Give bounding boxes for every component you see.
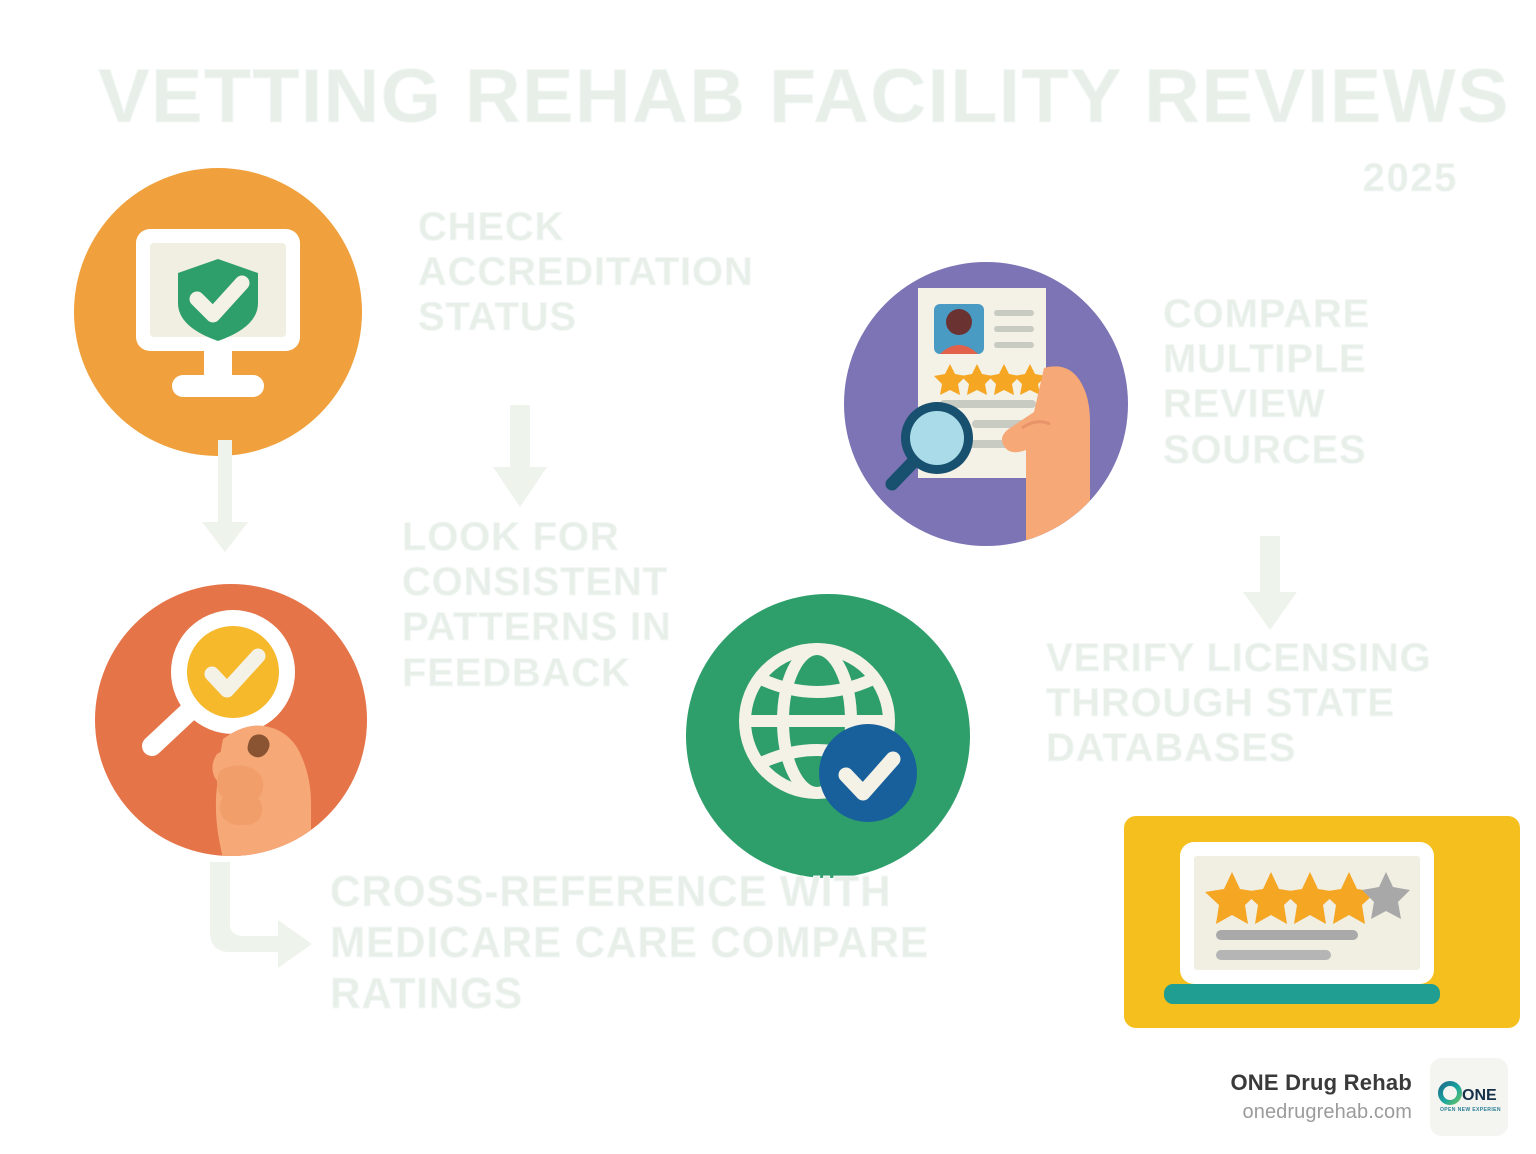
one-logo-icon: ONE OPEN NEW EXPERIENCES: [1437, 1077, 1501, 1117]
arrow-down-accreditation-to-crossref: [190, 440, 260, 560]
arrow-down-accreditation-to-patterns: [485, 405, 555, 515]
brand-name: ONE Drug Rehab: [1230, 1070, 1412, 1096]
arrow-down-compare-to-verify: [1235, 536, 1305, 636]
footer-brand: ONE Drug Rehab onedrugrehab.com ONE OPEN…: [1230, 1058, 1508, 1136]
laptop-stars-illustration: [1124, 816, 1520, 1028]
review-document-magnifier-icon: [844, 262, 1128, 546]
step-label-compare-sources: COMPARE MULTIPLE REVIEW SOURCES: [1163, 292, 1463, 473]
step-label-verify-licensing: VERIFY LICENSING THROUGH STATE DATABASES: [1046, 636, 1476, 772]
step-icon-compare-sources: [844, 262, 1128, 546]
step-label-cross-reference: CROSS-REFERENCE WITH MEDICARE CARE COMPA…: [330, 866, 1098, 1019]
brand-url[interactable]: onedrugrehab.com: [1230, 1101, 1412, 1124]
step-icon-verify-licensing: [686, 594, 970, 878]
elbow-arrow-crossref-icon: [200, 862, 320, 972]
magnifier-check-hand-icon: [95, 584, 367, 856]
infographic-canvas: VETTING REHAB FACILITY REVIEWS 2025 CHEC…: [0, 0, 1536, 1154]
step-icon-check-accreditation: [74, 168, 362, 456]
step-icon-look-for-patterns: [95, 584, 367, 856]
globe-verified-icon: [713, 621, 943, 851]
one-logo-word: ONE: [1462, 1087, 1497, 1104]
monitor-shield-check-icon: [118, 217, 318, 407]
year-label: 2025: [1363, 158, 1458, 199]
step-label-check-accreditation: CHECK ACCREDITATION STATUS: [418, 205, 798, 341]
page-title: VETTING REHAB FACILITY REVIEWS: [98, 58, 1510, 136]
laptop-rating-card: [1124, 816, 1520, 1028]
step-label-look-for-patterns: LOOK FOR CONSISTENT PATTERNS IN FEEDBACK: [402, 515, 732, 696]
footer-text-block: ONE Drug Rehab onedrugrehab.com: [1230, 1070, 1412, 1124]
one-logo-tagline: OPEN NEW EXPERIENCES: [1440, 1107, 1501, 1113]
brand-logo: ONE OPEN NEW EXPERIENCES: [1430, 1058, 1508, 1136]
